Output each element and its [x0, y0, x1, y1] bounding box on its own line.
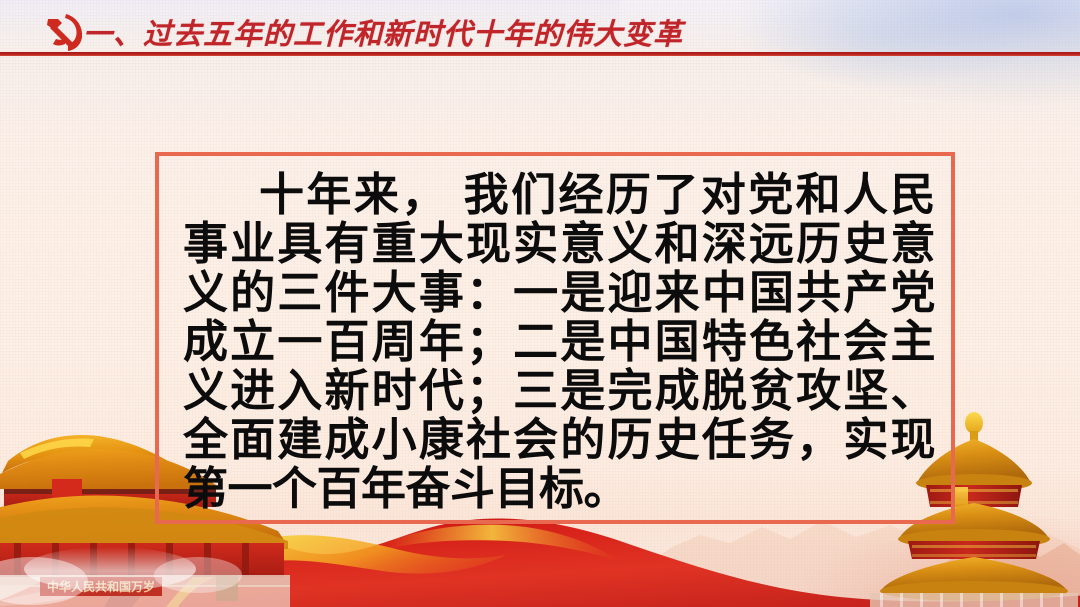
header-divider-rule	[0, 52, 1080, 56]
quote-body-text: 十年来， 我们经历了对党和人民事业具有重大现实意义和深远历史意义的三件大事：一是…	[183, 170, 935, 513]
page-title: 一、过去五年的工作和新时代十年的伟大变革	[83, 11, 683, 53]
quote-textbox: 十年来， 我们经历了对党和人民事业具有重大现实意义和深远历史意义的三件大事：一是…	[155, 152, 955, 524]
slide-canvas: 中华人民共和国万岁	[0, 0, 1080, 607]
slide-header: 一、过去五年的工作和新时代十年的伟大变革	[0, 0, 1080, 55]
cpc-hammer-sickle-emblem	[42, 11, 86, 53]
